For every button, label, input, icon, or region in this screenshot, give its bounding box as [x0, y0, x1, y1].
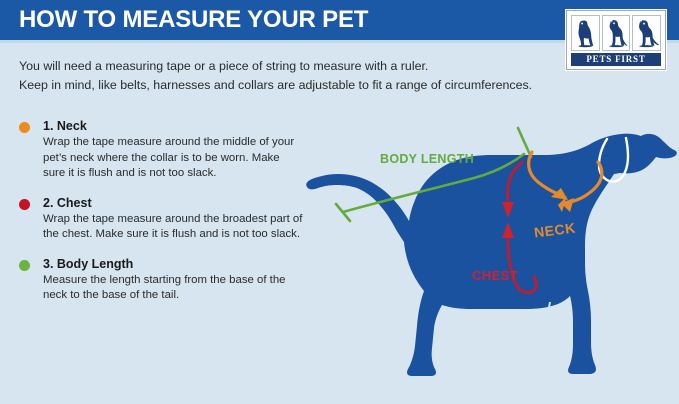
bullet-icon-body-length: [19, 260, 30, 271]
infographic-page: HOW TO MEASURE YOUR PET: [0, 0, 679, 404]
step-body-body-length: Measure the length starting from the bas…: [43, 273, 304, 304]
dog-measurement-diagram: BODY LENGTH NECK CHEST: [296, 100, 679, 404]
logo-panel-2: [602, 15, 631, 51]
step-title-neck: 1. Neck: [43, 118, 304, 134]
dog-silhouette-icon: [296, 100, 679, 404]
step-title-body-length: 3. Body Length: [43, 256, 304, 272]
bullet-icon-chest: [19, 199, 30, 210]
measurement-steps-list: 1. Neck Wrap the tape measure around the…: [19, 118, 304, 317]
logo-panel-group: [571, 15, 661, 51]
label-chest: CHEST: [472, 268, 518, 283]
logo-panel-3: [632, 15, 661, 51]
intro-line-2: Keep in mind, like belts, harnesses and …: [19, 76, 579, 95]
bullet-icon-neck: [19, 122, 30, 133]
step-body-chest: Wrap the tape measure around the broades…: [43, 212, 304, 243]
list-item: 3. Body Length Measure the length starti…: [19, 256, 304, 304]
logo-panel-1: [571, 15, 600, 51]
dog-sitting-icon: [572, 16, 599, 50]
list-item: 1. Neck Wrap the tape measure around the…: [19, 118, 304, 182]
list-item: 2. Chest Wrap the tape measure around th…: [19, 195, 304, 243]
label-body-length: BODY LENGTH: [380, 152, 474, 166]
step-body-neck: Wrap the tape measure around the middle …: [43, 135, 304, 182]
intro-text: You will need a measuring tape or a piec…: [19, 57, 579, 95]
logo-wordmark: PETS FIRST: [571, 53, 661, 66]
dog-begging-icon: [603, 16, 630, 50]
page-title: HOW TO MEASURE YOUR PET: [19, 7, 368, 33]
step-title-chest: 2. Chest: [43, 195, 304, 211]
intro-line-1: You will need a measuring tape or a piec…: [19, 57, 579, 76]
dog-alert-icon: [633, 16, 660, 50]
brand-logo: PETS FIRST: [566, 10, 666, 70]
